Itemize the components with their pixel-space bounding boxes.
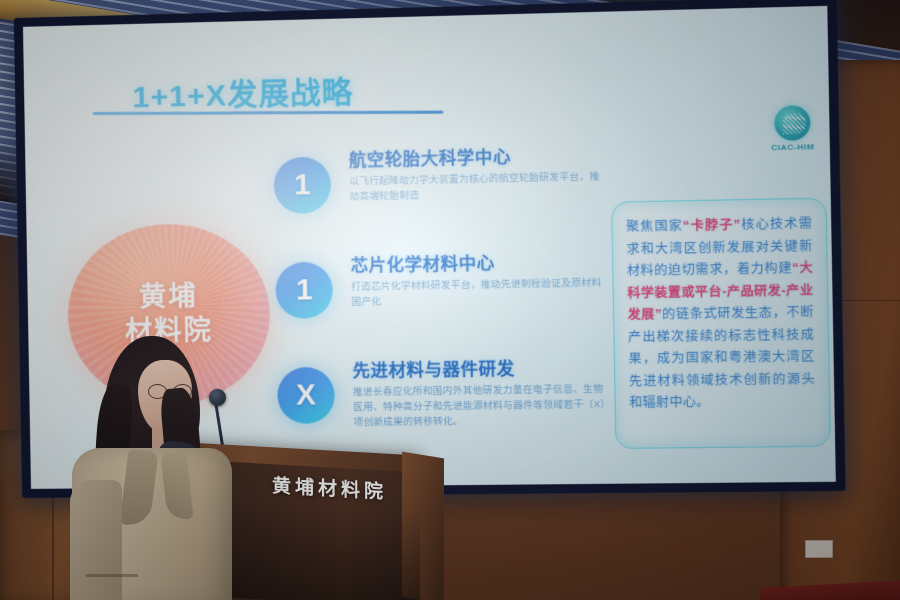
title-underline — [93, 111, 444, 115]
strategy-item-2-body: 芯片化学材料中心 打造芯片化学材料研发平台，推动先进制程验证及原材料国产化 — [351, 251, 606, 311]
conference-hall-photo: 1+1+X发展战略 CIAC-HIM 黄埔 材料院 1 航空轮胎大科学中心 — [0, 0, 900, 600]
speaker-person — [60, 330, 250, 600]
slide-title: 1+1+X发展战略 — [132, 67, 353, 117]
strategy-item-3-heading: 先进材料与器件研发 — [352, 357, 606, 383]
strategy-badge-3: X — [277, 367, 335, 424]
strategy-item-1-body: 航空轮胎大科学中心 以飞行起降动力学大装置为核心的航空轮胎研发平台，推动高端轮胎… — [349, 145, 604, 206]
globe-icon — [774, 105, 811, 141]
institute-blob-line1: 黄埔 — [139, 280, 198, 315]
strategy-items-list: 1 航空轮胎大科学中心 以飞行起降动力学大装置为核心的航空轮胎研发平台，推动高端… — [273, 145, 608, 467]
callout-seg-1: 聚焦国家 — [626, 219, 683, 234]
strategy-item-2: 1 芯片化学材料中心 打造芯片化学材料研发平台，推动先进制程验证及原材料国产化 — [275, 251, 606, 362]
strategy-item-2-heading: 芯片化学材料中心 — [351, 251, 605, 278]
strategy-item-2-description: 打造芯片化学材料研发平台，推动先进制程验证及原材料国产化 — [351, 276, 606, 310]
strategy-item-1: 1 航空轮胎大科学中心 以飞行起降动力学大装置为核心的航空轮胎研发平台，推动高端… — [273, 145, 604, 257]
logo-text: CIAC-HIM — [754, 142, 832, 153]
strategy-item-3-description: 推进长春应化所和国内外其他研发力量在电子信息、生物医用、特种高分子和先进能源材料… — [353, 383, 608, 431]
wall-placard — [805, 540, 833, 558]
strategy-badge-2: 1 — [275, 262, 333, 320]
callout-paragraph: 聚焦国家“卡脖子”核心技术需求和大湾区创新发展对关键新材料的迫切需求，着力构建“… — [626, 213, 816, 414]
strategy-item-1-description: 以飞行起降动力学大装置为核心的航空轮胎研发平台，推动高端轮胎制造 — [349, 170, 604, 205]
podium-label: 黄埔材料院 — [272, 471, 387, 504]
strategy-callout-box: 聚焦国家“卡脖子”核心技术需求和大湾区创新发展对关键新材料的迫切需求，着力构建“… — [611, 198, 831, 449]
strategy-item-1-heading: 航空轮胎大科学中心 — [349, 145, 603, 173]
strategy-item-3-body: 先进材料与器件研发 推进长春应化所和国内外其他研发力量在电子信息、生物医用、特种… — [352, 357, 607, 431]
callout-highlight-1: “卡脖子” — [683, 218, 741, 233]
speaker-pocket — [86, 574, 138, 577]
speaker-arm — [70, 480, 122, 600]
strategy-badge-1: 1 — [273, 156, 331, 214]
ciac-him-logo: CIAC-HIM — [753, 105, 832, 153]
